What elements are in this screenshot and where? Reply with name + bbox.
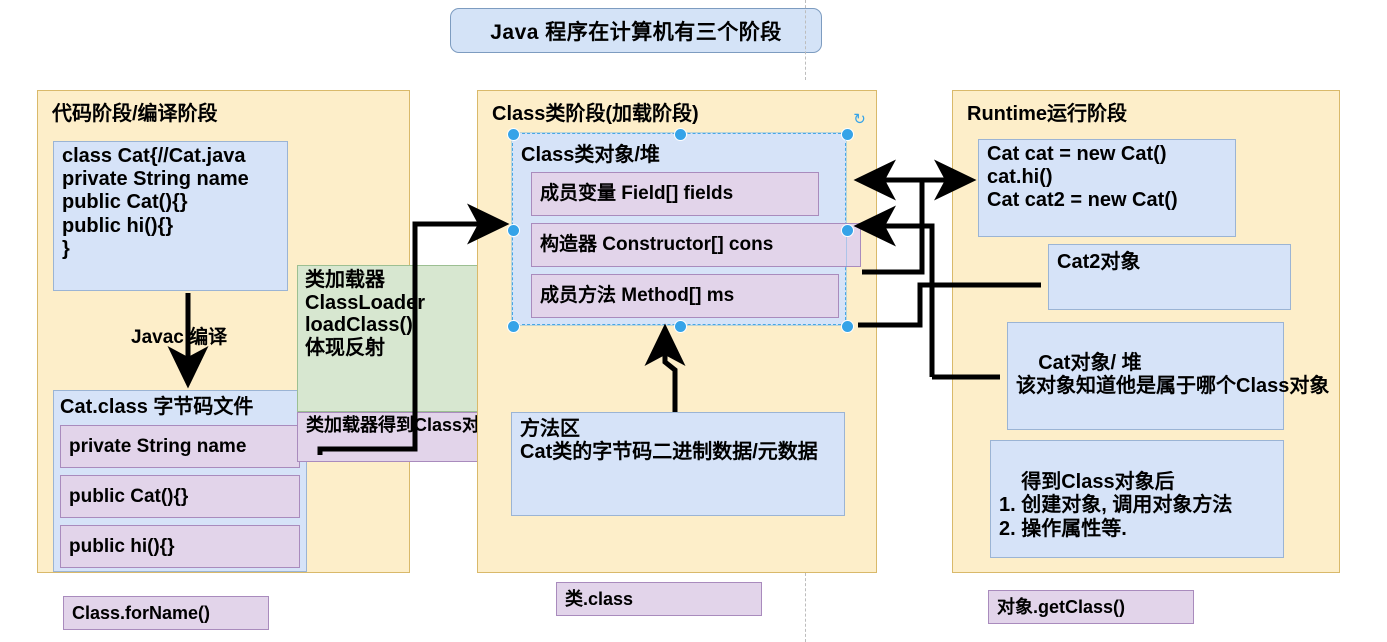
- cat2-object-box: Cat2对象: [1048, 244, 1291, 310]
- bytecode-member-2: public hi(){}: [60, 525, 300, 568]
- after-class-object-box: 得到Class对象后 1. 创建对象, 调用对象方法 2. 操作属性等.: [990, 440, 1284, 558]
- selection-handle-bottom-center[interactable]: [674, 320, 687, 333]
- selection-handle-bottom-left[interactable]: [507, 320, 520, 333]
- bytecode-member-1: public Cat(){}: [60, 475, 300, 518]
- diagram-title: Java 程序在计算机有三个阶段: [450, 8, 822, 53]
- javac-compile-label: Javac 编译: [131, 322, 227, 349]
- selection-handle-bottom-right[interactable]: [841, 320, 854, 333]
- bytecode-file-box: Cat.class 字节码文件 private String name publ…: [53, 390, 307, 572]
- class-member-methods: 成员方法 Method[] ms: [531, 274, 839, 318]
- panel-runtime-stage-title: Runtime运行阶段: [967, 97, 1127, 126]
- panel-class-stage-title: Class类阶段(加载阶段): [492, 97, 699, 126]
- cat-object-box: Cat对象/ 堆 该对象知道他是属于哪个Class对象: [1007, 322, 1284, 430]
- selection-handle-top-center[interactable]: [674, 128, 687, 141]
- selection-handle-top-right[interactable]: [841, 128, 854, 141]
- panel-code-stage-title: 代码阶段/编译阶段: [52, 97, 218, 126]
- selection-handle-middle-right[interactable]: [841, 224, 854, 237]
- after-class-object-text: 得到Class对象后 1. 创建对象, 调用对象方法 2. 操作属性等.: [999, 471, 1232, 539]
- runtime-code-box: Cat cat = new Cat() cat.hi() Cat cat2 = …: [978, 139, 1236, 237]
- source-code-box: class Cat{//Cat.java private String name…: [53, 141, 288, 291]
- footer-tag-class-class: 类.class: [556, 582, 762, 616]
- rotate-icon[interactable]: ↻: [852, 112, 867, 127]
- footer-tag-object-getclass: 对象.getClass(): [988, 590, 1194, 624]
- class-object-title: Class类对象/堆: [521, 138, 837, 167]
- diagram-title-text: Java 程序在计算机有三个阶段: [490, 16, 782, 46]
- diagram-canvas: Java 程序在计算机有三个阶段 代码阶段/编译阶段 class Cat{//C…: [0, 0, 1387, 642]
- footer-tag-class-forname: Class.forName(): [63, 596, 269, 630]
- bytecode-member-0: private String name: [60, 425, 300, 468]
- method-area-text: 方法区 Cat类的字节码二进制数据/元数据: [520, 418, 818, 463]
- class-member-fields: 成员变量 Field[] fields: [531, 172, 819, 216]
- method-area-box: 方法区 Cat类的字节码二进制数据/元数据: [511, 412, 845, 516]
- cat-object-text: Cat对象/ 堆 该对象知道他是属于哪个Class对象: [1016, 352, 1329, 397]
- guide-line-top-middle: [805, 0, 806, 80]
- selection-handle-middle-left[interactable]: [507, 224, 520, 237]
- bytecode-file-title: Cat.class 字节码文件: [60, 396, 300, 419]
- class-object-box[interactable]: Class类对象/堆 成员变量 Field[] fields 构造器 Const…: [512, 133, 846, 325]
- class-member-constructors: 构造器 Constructor[] cons: [531, 223, 861, 267]
- guide-line-bottom-middle: [805, 573, 806, 642]
- selection-handle-top-left[interactable]: [507, 128, 520, 141]
